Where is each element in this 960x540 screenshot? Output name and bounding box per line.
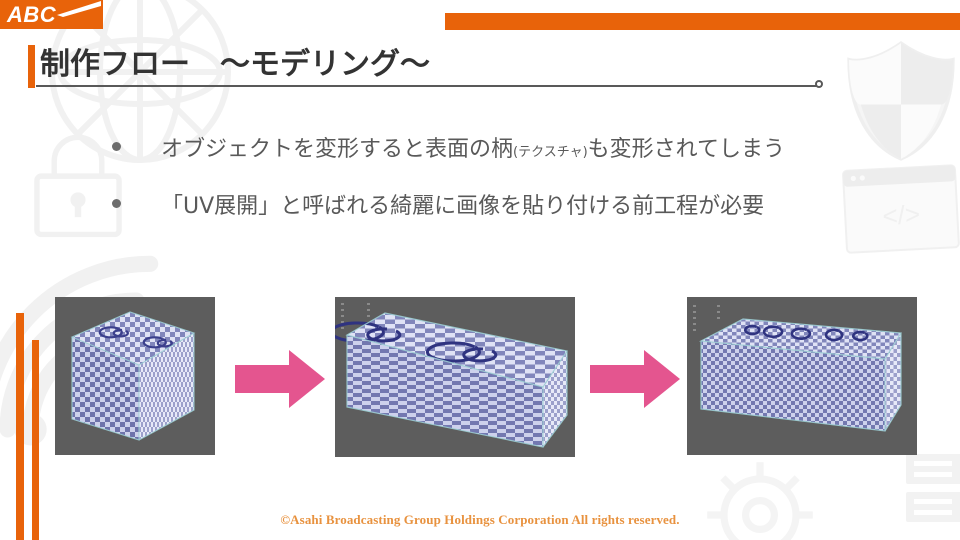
bullet-1-seg-1: (テクスチャ) bbox=[513, 145, 588, 160]
orange-title-accent bbox=[28, 45, 35, 88]
figure-box-uv-corrected-render bbox=[687, 297, 917, 455]
arrow-step-1 bbox=[235, 350, 325, 408]
figure-box-stretched bbox=[335, 297, 575, 457]
bullet-dot-icon bbox=[112, 142, 121, 151]
slide-canvas: </> ABC bbox=[0, 0, 960, 540]
bullet-text-2: 「UV展開」と呼ばれる綺麗に画像を貼り付ける前工程が必要 bbox=[161, 191, 764, 223]
abc-logo: ABC bbox=[0, 0, 103, 29]
abc-logo-text: ABC bbox=[7, 2, 56, 28]
list-item: 「UV展開」と呼ばれる綺麗に画像を貼り付ける前工程が必要 bbox=[112, 191, 912, 223]
footer-copyright: ©Asahi Broadcasting Group Holdings Corpo… bbox=[0, 512, 960, 528]
bullet-list: オブジェクトを変形すると表面の柄(テクスチャ)も変形されてしまう 「UV展開」と… bbox=[112, 134, 912, 245]
orange-top-bar bbox=[445, 13, 960, 30]
figure-box-uv-corrected bbox=[687, 297, 917, 455]
figure-box-stretched-render bbox=[335, 297, 575, 457]
title-underline bbox=[36, 85, 822, 87]
orange-side-bar-right bbox=[32, 340, 39, 540]
orange-side-bar-left bbox=[16, 313, 24, 540]
circle-endpoint bbox=[815, 80, 823, 88]
abc-swoosh-icon bbox=[57, 1, 101, 17]
page-title: 制作フロー 〜モデリング〜 bbox=[40, 44, 430, 86]
bullet-1-seg-2: も変形されてしまう bbox=[588, 137, 785, 162]
bullet-1-seg-0: オブジェクトを変形すると表面の柄 bbox=[161, 137, 513, 162]
figure-cube-original bbox=[55, 297, 215, 455]
list-item: オブジェクトを変形すると表面の柄(テクスチャ)も変形されてしまう bbox=[112, 134, 912, 169]
bullet-text-1: オブジェクトを変形すると表面の柄(テクスチャ)も変形されてしまう bbox=[161, 134, 785, 169]
bullet-dot-icon bbox=[112, 199, 121, 208]
figure-cube-original-render bbox=[55, 297, 215, 455]
arrow-step-2 bbox=[590, 350, 680, 408]
